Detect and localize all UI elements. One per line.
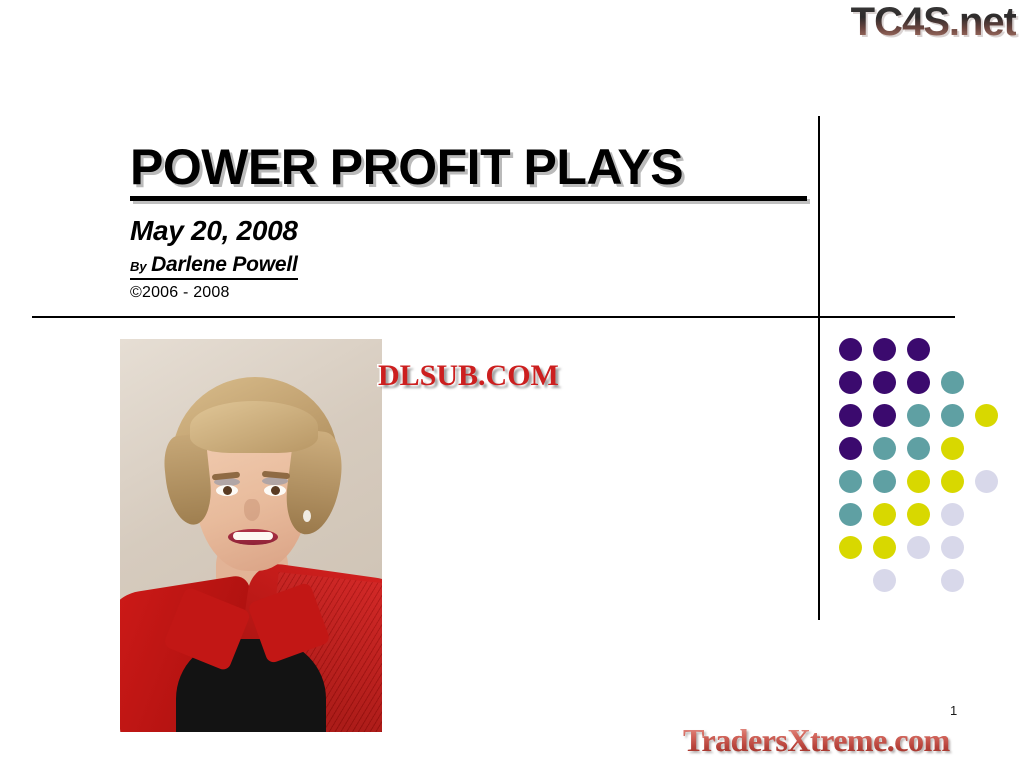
dot-yellow [907,503,930,526]
dot-lavender [941,569,964,592]
dot-purple [839,338,862,361]
dot-lavender [907,536,930,559]
dot-purple [839,437,862,460]
portrait-hair-fringe [190,401,318,453]
byline-prefix: By [130,259,147,274]
page-number: 1 [950,703,957,718]
vertical-divider-rule [818,116,820,620]
dot-teal [941,404,964,427]
portrait-teeth [233,532,273,540]
dot-purple [907,371,930,394]
dot-yellow [941,470,964,493]
portrait-earring [303,510,311,522]
dot-lavender [941,503,964,526]
byline: By Darlene Powell [130,253,298,280]
dot-yellow [873,536,896,559]
dot-teal [907,404,930,427]
dot-teal [839,503,862,526]
dot-teal [873,437,896,460]
dot-purple [839,404,862,427]
dot-lavender [941,536,964,559]
portrait-iris-right [271,486,280,495]
dot-lavender [975,470,998,493]
dot-yellow [873,503,896,526]
tc4s-logo: TC4S.net [851,2,1016,42]
dot-purple [839,371,862,394]
portrait-figure [120,339,382,732]
author-portrait-photo [120,339,382,732]
dot-yellow [941,437,964,460]
dot-teal [839,470,862,493]
dot-teal [907,437,930,460]
author-name: Darlene Powell [151,253,298,276]
dot-teal [873,470,896,493]
decorative-dot-grid [839,338,999,588]
dot-teal [941,371,964,394]
dlsub-watermark: DLSUB.COM [378,361,559,391]
dot-purple [873,338,896,361]
dot-purple [907,338,930,361]
tradersxtreme-logo-outline: TradersXtreme.com [683,724,950,756]
title-underline [130,196,807,201]
title-block: POWER PROFIT PLAYS May 20, 2008 By Darle… [130,142,810,302]
horizontal-divider-rule [32,316,955,318]
page-title: POWER PROFIT PLAYS [130,142,810,194]
dot-yellow [907,470,930,493]
presentation-date: May 20, 2008 [130,215,810,247]
portrait-iris-left [223,486,232,495]
slide-canvas: TC4S.net TC4S.net POWER PROFIT PLAYS May… [0,0,1024,768]
dot-lavender [873,569,896,592]
dot-yellow [975,404,998,427]
dot-purple [873,404,896,427]
portrait-nose [244,499,260,521]
dot-yellow [839,536,862,559]
dot-purple [873,371,896,394]
copyright-notice: ©2006 - 2008 [130,284,810,302]
